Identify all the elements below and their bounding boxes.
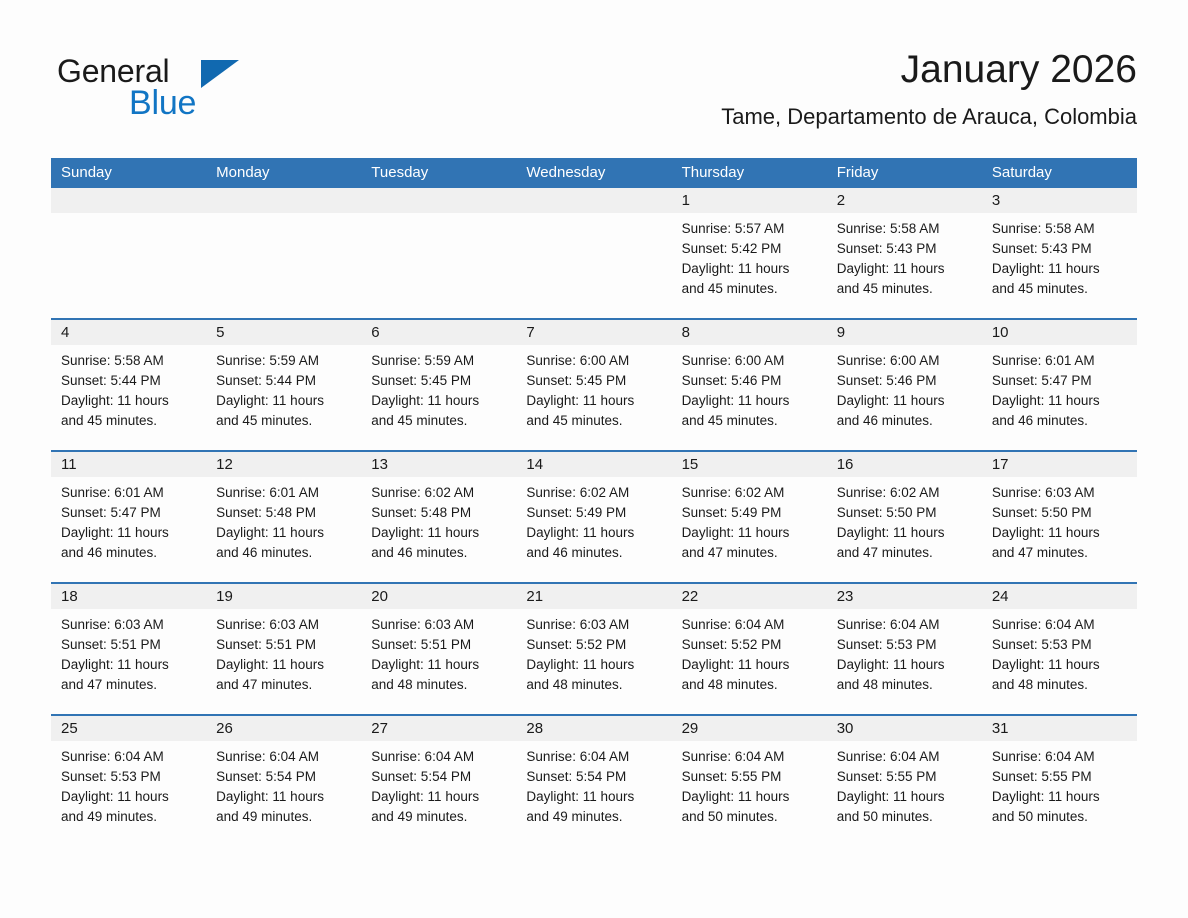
daylight-text-line2: and 45 minutes. xyxy=(216,411,353,431)
calendar-body: 1Sunrise: 5:57 AMSunset: 5:42 PMDaylight… xyxy=(51,188,1137,846)
calendar-day-cell[interactable]: 2Sunrise: 5:58 AMSunset: 5:43 PMDaylight… xyxy=(827,188,982,319)
sunset-text: Sunset: 5:46 PM xyxy=(682,371,819,391)
page-title: January 2026 xyxy=(317,46,1137,94)
daylight-text-line2: and 45 minutes. xyxy=(682,279,819,299)
daylight-text-line1: Daylight: 11 hours xyxy=(371,391,508,411)
calendar-day-cell[interactable]: 18Sunrise: 6:03 AMSunset: 5:51 PMDayligh… xyxy=(51,583,206,715)
daylight-text-line2: and 47 minutes. xyxy=(992,543,1129,563)
daylight-text-line2: and 48 minutes. xyxy=(682,675,819,695)
calendar-week-row: 11Sunrise: 6:01 AMSunset: 5:47 PMDayligh… xyxy=(51,451,1137,583)
sunset-text: Sunset: 5:45 PM xyxy=(526,371,663,391)
sunset-text: Sunset: 5:47 PM xyxy=(61,503,198,523)
sunset-text: Sunset: 5:43 PM xyxy=(992,239,1129,259)
daylight-text-line1: Daylight: 11 hours xyxy=(682,391,819,411)
sunrise-text: Sunrise: 6:03 AM xyxy=(61,615,198,635)
sunrise-text: Sunrise: 6:03 AM xyxy=(216,615,353,635)
sunset-text: Sunset: 5:54 PM xyxy=(216,767,353,787)
calendar-day-cell[interactable]: 29Sunrise: 6:04 AMSunset: 5:55 PMDayligh… xyxy=(672,715,827,846)
calendar-day-cell[interactable]: 5Sunrise: 5:59 AMSunset: 5:44 PMDaylight… xyxy=(206,319,361,451)
sunrise-text: Sunrise: 6:03 AM xyxy=(992,483,1129,503)
day-details xyxy=(361,213,516,318)
day-details: Sunrise: 5:59 AMSunset: 5:44 PMDaylight:… xyxy=(206,345,361,450)
day-number: 27 xyxy=(361,716,516,741)
calendar-week-row: 18Sunrise: 6:03 AMSunset: 5:51 PMDayligh… xyxy=(51,583,1137,715)
daylight-text-line1: Daylight: 11 hours xyxy=(216,391,353,411)
day-details: Sunrise: 6:00 AMSunset: 5:46 PMDaylight:… xyxy=(827,345,982,450)
day-number: 8 xyxy=(672,320,827,345)
daylight-text-line1: Daylight: 11 hours xyxy=(371,787,508,807)
calendar-day-cell[interactable]: 25Sunrise: 6:04 AMSunset: 5:53 PMDayligh… xyxy=(51,715,206,846)
daylight-text-line2: and 45 minutes. xyxy=(682,411,819,431)
day-number: 31 xyxy=(982,716,1137,741)
weekday-header-sunday: Sunday xyxy=(51,158,206,188)
sunrise-text: Sunrise: 6:04 AM xyxy=(837,615,974,635)
daylight-text-line1: Daylight: 11 hours xyxy=(526,787,663,807)
day-number: 4 xyxy=(51,320,206,345)
sunset-text: Sunset: 5:42 PM xyxy=(682,239,819,259)
sunrise-text: Sunrise: 5:59 AM xyxy=(371,351,508,371)
sunrise-text: Sunrise: 6:00 AM xyxy=(526,351,663,371)
day-details: Sunrise: 6:03 AMSunset: 5:51 PMDaylight:… xyxy=(206,609,361,714)
logo-text-general: General xyxy=(57,54,169,88)
day-number: 15 xyxy=(672,452,827,477)
day-number xyxy=(51,188,206,213)
daylight-text-line1: Daylight: 11 hours xyxy=(216,523,353,543)
calendar-header-row: Sunday Monday Tuesday Wednesday Thursday… xyxy=(51,158,1137,188)
day-number xyxy=(206,188,361,213)
daylight-text-line1: Daylight: 11 hours xyxy=(837,787,974,807)
day-details: Sunrise: 6:02 AMSunset: 5:48 PMDaylight:… xyxy=(361,477,516,582)
sunset-text: Sunset: 5:50 PM xyxy=(837,503,974,523)
daylight-text-line1: Daylight: 11 hours xyxy=(992,523,1129,543)
day-number: 24 xyxy=(982,584,1137,609)
calendar-day-cell[interactable]: 8Sunrise: 6:00 AMSunset: 5:46 PMDaylight… xyxy=(672,319,827,451)
sunset-text: Sunset: 5:45 PM xyxy=(371,371,508,391)
daylight-text-line2: and 49 minutes. xyxy=(526,807,663,827)
day-number: 28 xyxy=(516,716,671,741)
calendar-day-cell[interactable]: 23Sunrise: 6:04 AMSunset: 5:53 PMDayligh… xyxy=(827,583,982,715)
sunrise-text: Sunrise: 6:04 AM xyxy=(992,747,1129,767)
daylight-text-line1: Daylight: 11 hours xyxy=(61,787,198,807)
weekday-header-tuesday: Tuesday xyxy=(361,158,516,188)
sunrise-text: Sunrise: 5:58 AM xyxy=(992,219,1129,239)
sunrise-text: Sunrise: 5:58 AM xyxy=(837,219,974,239)
calendar-day-cell[interactable]: 16Sunrise: 6:02 AMSunset: 5:50 PMDayligh… xyxy=(827,451,982,583)
sunrise-text: Sunrise: 6:04 AM xyxy=(682,747,819,767)
page-header: General Blue January 2026 Tame, Departam… xyxy=(51,46,1137,150)
calendar-day-cell[interactable]: 15Sunrise: 6:02 AMSunset: 5:49 PMDayligh… xyxy=(672,451,827,583)
weekday-header-saturday: Saturday xyxy=(982,158,1137,188)
title-block: January 2026 Tame, Departamento de Arauc… xyxy=(317,46,1137,130)
sunrise-text: Sunrise: 6:02 AM xyxy=(371,483,508,503)
day-number: 26 xyxy=(206,716,361,741)
daylight-text-line2: and 45 minutes. xyxy=(837,279,974,299)
sunset-text: Sunset: 5:52 PM xyxy=(682,635,819,655)
daylight-text-line2: and 46 minutes. xyxy=(992,411,1129,431)
day-number: 11 xyxy=(51,452,206,477)
day-details: Sunrise: 6:04 AMSunset: 5:55 PMDaylight:… xyxy=(982,741,1137,846)
daylight-text-line2: and 45 minutes. xyxy=(992,279,1129,299)
sunrise-text: Sunrise: 6:04 AM xyxy=(992,615,1129,635)
generalblue-logo[interactable]: General Blue xyxy=(51,54,311,134)
day-details: Sunrise: 6:01 AMSunset: 5:47 PMDaylight:… xyxy=(982,345,1137,450)
sunrise-text: Sunrise: 6:04 AM xyxy=(526,747,663,767)
sunrise-text: Sunrise: 5:59 AM xyxy=(216,351,353,371)
sunrise-text: Sunrise: 6:04 AM xyxy=(61,747,198,767)
sunset-text: Sunset: 5:53 PM xyxy=(992,635,1129,655)
sunset-text: Sunset: 5:55 PM xyxy=(682,767,819,787)
calendar-day-cell[interactable]: 14Sunrise: 6:02 AMSunset: 5:49 PMDayligh… xyxy=(516,451,671,583)
calendar-day-cell[interactable]: 12Sunrise: 6:01 AMSunset: 5:48 PMDayligh… xyxy=(206,451,361,583)
calendar-day-cell[interactable]: 1Sunrise: 5:57 AMSunset: 5:42 PMDaylight… xyxy=(672,188,827,319)
sunset-text: Sunset: 5:49 PM xyxy=(682,503,819,523)
sunset-text: Sunset: 5:53 PM xyxy=(61,767,198,787)
sunset-text: Sunset: 5:47 PM xyxy=(992,371,1129,391)
sunrise-text: Sunrise: 6:04 AM xyxy=(837,747,974,767)
day-number: 7 xyxy=(516,320,671,345)
daylight-text-line2: and 48 minutes. xyxy=(526,675,663,695)
weekday-header-wednesday: Wednesday xyxy=(516,158,671,188)
daylight-text-line1: Daylight: 11 hours xyxy=(216,787,353,807)
day-details: Sunrise: 6:03 AMSunset: 5:50 PMDaylight:… xyxy=(982,477,1137,582)
sunrise-text: Sunrise: 6:04 AM xyxy=(216,747,353,767)
day-details xyxy=(516,213,671,318)
sunset-text: Sunset: 5:54 PM xyxy=(526,767,663,787)
calendar-day-cell[interactable]: 30Sunrise: 6:04 AMSunset: 5:55 PMDayligh… xyxy=(827,715,982,846)
daylight-text-line1: Daylight: 11 hours xyxy=(682,787,819,807)
day-number: 30 xyxy=(827,716,982,741)
daylight-text-line2: and 46 minutes. xyxy=(216,543,353,563)
daylight-text-line2: and 46 minutes. xyxy=(526,543,663,563)
page-subtitle: Tame, Departamento de Arauca, Colombia xyxy=(317,104,1137,130)
day-number: 25 xyxy=(51,716,206,741)
calendar-day-cell[interactable]: 11Sunrise: 6:01 AMSunset: 5:47 PMDayligh… xyxy=(51,451,206,583)
day-details: Sunrise: 6:00 AMSunset: 5:45 PMDaylight:… xyxy=(516,345,671,450)
day-details: Sunrise: 6:04 AMSunset: 5:52 PMDaylight:… xyxy=(672,609,827,714)
daylight-text-line2: and 47 minutes. xyxy=(216,675,353,695)
day-number: 6 xyxy=(361,320,516,345)
daylight-text-line2: and 46 minutes. xyxy=(837,411,974,431)
day-number: 18 xyxy=(51,584,206,609)
day-number: 5 xyxy=(206,320,361,345)
day-details: Sunrise: 5:58 AMSunset: 5:43 PMDaylight:… xyxy=(982,213,1137,318)
calendar-day-cell[interactable]: 21Sunrise: 6:03 AMSunset: 5:52 PMDayligh… xyxy=(516,583,671,715)
day-details: Sunrise: 6:02 AMSunset: 5:50 PMDaylight:… xyxy=(827,477,982,582)
daylight-text-line1: Daylight: 11 hours xyxy=(61,523,198,543)
sunrise-text: Sunrise: 5:57 AM xyxy=(682,219,819,239)
day-number: 23 xyxy=(827,584,982,609)
daylight-text-line2: and 47 minutes. xyxy=(61,675,198,695)
daylight-text-line2: and 49 minutes. xyxy=(371,807,508,827)
day-details: Sunrise: 5:57 AMSunset: 5:42 PMDaylight:… xyxy=(672,213,827,318)
calendar-week-row: 1Sunrise: 5:57 AMSunset: 5:42 PMDaylight… xyxy=(51,188,1137,319)
calendar-day-cell[interactable]: 20Sunrise: 6:03 AMSunset: 5:51 PMDayligh… xyxy=(361,583,516,715)
daylight-text-line1: Daylight: 11 hours xyxy=(61,391,198,411)
daylight-text-line2: and 48 minutes. xyxy=(837,675,974,695)
daylight-text-line1: Daylight: 11 hours xyxy=(526,523,663,543)
sunrise-text: Sunrise: 6:03 AM xyxy=(371,615,508,635)
sunset-text: Sunset: 5:50 PM xyxy=(992,503,1129,523)
day-details: Sunrise: 6:00 AMSunset: 5:46 PMDaylight:… xyxy=(672,345,827,450)
day-details: Sunrise: 6:03 AMSunset: 5:51 PMDaylight:… xyxy=(51,609,206,714)
daylight-text-line2: and 49 minutes. xyxy=(61,807,198,827)
day-details: Sunrise: 6:04 AMSunset: 5:54 PMDaylight:… xyxy=(516,741,671,846)
calendar-day-cell[interactable]: 22Sunrise: 6:04 AMSunset: 5:52 PMDayligh… xyxy=(672,583,827,715)
calendar-day-cell[interactable]: 24Sunrise: 6:04 AMSunset: 5:53 PMDayligh… xyxy=(982,583,1137,715)
calendar-day-cell[interactable]: 10Sunrise: 6:01 AMSunset: 5:47 PMDayligh… xyxy=(982,319,1137,451)
daylight-text-line2: and 48 minutes. xyxy=(992,675,1129,695)
day-number: 16 xyxy=(827,452,982,477)
sunrise-text: Sunrise: 6:04 AM xyxy=(682,615,819,635)
calendar-day-cell[interactable]: 26Sunrise: 6:04 AMSunset: 5:54 PMDayligh… xyxy=(206,715,361,846)
day-number: 29 xyxy=(672,716,827,741)
daylight-text-line2: and 45 minutes. xyxy=(61,411,198,431)
day-number: 9 xyxy=(827,320,982,345)
calendar-day-cell[interactable]: 3Sunrise: 5:58 AMSunset: 5:43 PMDaylight… xyxy=(982,188,1137,319)
daylight-text-line2: and 50 minutes. xyxy=(992,807,1129,827)
day-details xyxy=(51,213,206,318)
daylight-text-line2: and 50 minutes. xyxy=(682,807,819,827)
daylight-text-line1: Daylight: 11 hours xyxy=(682,259,819,279)
calendar-day-cell[interactable]: 19Sunrise: 6:03 AMSunset: 5:51 PMDayligh… xyxy=(206,583,361,715)
sunrise-text: Sunrise: 6:02 AM xyxy=(682,483,819,503)
sunrise-text: Sunrise: 6:03 AM xyxy=(526,615,663,635)
calendar-day-cell-empty xyxy=(361,188,516,319)
day-number: 17 xyxy=(982,452,1137,477)
daylight-text-line1: Daylight: 11 hours xyxy=(992,391,1129,411)
day-number: 22 xyxy=(672,584,827,609)
daylight-text-line1: Daylight: 11 hours xyxy=(837,655,974,675)
day-details: Sunrise: 6:04 AMSunset: 5:55 PMDaylight:… xyxy=(827,741,982,846)
sunset-text: Sunset: 5:55 PM xyxy=(837,767,974,787)
daylight-text-line2: and 48 minutes. xyxy=(371,675,508,695)
day-number: 1 xyxy=(672,188,827,213)
day-number: 20 xyxy=(361,584,516,609)
daylight-text-line1: Daylight: 11 hours xyxy=(992,787,1129,807)
calendar-day-cell-empty xyxy=(516,188,671,319)
day-details: Sunrise: 5:58 AMSunset: 5:43 PMDaylight:… xyxy=(827,213,982,318)
daylight-text-line1: Daylight: 11 hours xyxy=(837,259,974,279)
day-number: 13 xyxy=(361,452,516,477)
daylight-text-line2: and 46 minutes. xyxy=(61,543,198,563)
sunrise-text: Sunrise: 6:00 AM xyxy=(837,351,974,371)
calendar-day-cell[interactable]: 31Sunrise: 6:04 AMSunset: 5:55 PMDayligh… xyxy=(982,715,1137,846)
daylight-text-line2: and 50 minutes. xyxy=(837,807,974,827)
sunset-text: Sunset: 5:53 PM xyxy=(837,635,974,655)
calendar-day-cell[interactable]: 28Sunrise: 6:04 AMSunset: 5:54 PMDayligh… xyxy=(516,715,671,846)
daylight-text-line2: and 47 minutes. xyxy=(682,543,819,563)
daylight-text-line1: Daylight: 11 hours xyxy=(837,523,974,543)
daylight-text-line1: Daylight: 11 hours xyxy=(216,655,353,675)
daylight-text-line1: Daylight: 11 hours xyxy=(992,655,1129,675)
daylight-text-line1: Daylight: 11 hours xyxy=(682,523,819,543)
daylight-text-line2: and 45 minutes. xyxy=(526,411,663,431)
weekday-header-monday: Monday xyxy=(206,158,361,188)
sunset-text: Sunset: 5:48 PM xyxy=(371,503,508,523)
sunrise-text: Sunrise: 6:01 AM xyxy=(216,483,353,503)
calendar-day-cell-empty xyxy=(206,188,361,319)
day-details: Sunrise: 6:01 AMSunset: 5:47 PMDaylight:… xyxy=(51,477,206,582)
daylight-text-line2: and 45 minutes. xyxy=(371,411,508,431)
calendar-day-cell[interactable]: 13Sunrise: 6:02 AMSunset: 5:48 PMDayligh… xyxy=(361,451,516,583)
day-number: 2 xyxy=(827,188,982,213)
calendar-day-cell[interactable]: 17Sunrise: 6:03 AMSunset: 5:50 PMDayligh… xyxy=(982,451,1137,583)
calendar-day-cell[interactable]: 27Sunrise: 6:04 AMSunset: 5:54 PMDayligh… xyxy=(361,715,516,846)
daylight-text-line1: Daylight: 11 hours xyxy=(992,259,1129,279)
day-details: Sunrise: 6:04 AMSunset: 5:53 PMDaylight:… xyxy=(51,741,206,846)
daylight-text-line1: Daylight: 11 hours xyxy=(682,655,819,675)
sunset-text: Sunset: 5:49 PM xyxy=(526,503,663,523)
day-details: Sunrise: 6:03 AMSunset: 5:52 PMDaylight:… xyxy=(516,609,671,714)
daylight-text-line1: Daylight: 11 hours xyxy=(526,391,663,411)
day-details: Sunrise: 6:03 AMSunset: 5:51 PMDaylight:… xyxy=(361,609,516,714)
day-details: Sunrise: 6:02 AMSunset: 5:49 PMDaylight:… xyxy=(672,477,827,582)
calendar-day-cell[interactable]: 6Sunrise: 5:59 AMSunset: 5:45 PMDaylight… xyxy=(361,319,516,451)
day-details: Sunrise: 6:01 AMSunset: 5:48 PMDaylight:… xyxy=(206,477,361,582)
day-details: Sunrise: 6:04 AMSunset: 5:55 PMDaylight:… xyxy=(672,741,827,846)
day-details: Sunrise: 5:58 AMSunset: 5:44 PMDaylight:… xyxy=(51,345,206,450)
day-details: Sunrise: 5:59 AMSunset: 5:45 PMDaylight:… xyxy=(361,345,516,450)
sunset-text: Sunset: 5:43 PM xyxy=(837,239,974,259)
day-details: Sunrise: 6:04 AMSunset: 5:53 PMDaylight:… xyxy=(982,609,1137,714)
sunset-text: Sunset: 5:54 PM xyxy=(371,767,508,787)
day-number xyxy=(361,188,516,213)
sunrise-text: Sunrise: 5:58 AM xyxy=(61,351,198,371)
daylight-text-line2: and 47 minutes. xyxy=(837,543,974,563)
sunset-text: Sunset: 5:55 PM xyxy=(992,767,1129,787)
calendar-table: Sunday Monday Tuesday Wednesday Thursday… xyxy=(51,158,1137,846)
daylight-text-line2: and 49 minutes. xyxy=(216,807,353,827)
calendar-week-row: 25Sunrise: 6:04 AMSunset: 5:53 PMDayligh… xyxy=(51,715,1137,846)
calendar-day-cell[interactable]: 9Sunrise: 6:00 AMSunset: 5:46 PMDaylight… xyxy=(827,319,982,451)
sunset-text: Sunset: 5:51 PM xyxy=(61,635,198,655)
day-number: 21 xyxy=(516,584,671,609)
sunrise-text: Sunrise: 6:01 AM xyxy=(992,351,1129,371)
logo-text-blue: Blue xyxy=(129,85,196,121)
daylight-text-line1: Daylight: 11 hours xyxy=(837,391,974,411)
weekday-header-friday: Friday xyxy=(827,158,982,188)
sunset-text: Sunset: 5:51 PM xyxy=(371,635,508,655)
sunrise-text: Sunrise: 6:02 AM xyxy=(837,483,974,503)
day-number xyxy=(516,188,671,213)
daylight-text-line1: Daylight: 11 hours xyxy=(371,655,508,675)
daylight-text-line1: Daylight: 11 hours xyxy=(61,655,198,675)
sunrise-text: Sunrise: 6:00 AM xyxy=(682,351,819,371)
day-number: 14 xyxy=(516,452,671,477)
sunrise-text: Sunrise: 6:01 AM xyxy=(61,483,198,503)
daylight-text-line1: Daylight: 11 hours xyxy=(371,523,508,543)
day-details: Sunrise: 6:04 AMSunset: 5:54 PMDaylight:… xyxy=(361,741,516,846)
sunset-text: Sunset: 5:52 PM xyxy=(526,635,663,655)
day-number: 3 xyxy=(982,188,1137,213)
day-details xyxy=(206,213,361,318)
calendar-day-cell[interactable]: 4Sunrise: 5:58 AMSunset: 5:44 PMDaylight… xyxy=(51,319,206,451)
day-number: 19 xyxy=(206,584,361,609)
sunrise-text: Sunrise: 6:02 AM xyxy=(526,483,663,503)
day-number: 12 xyxy=(206,452,361,477)
daylight-text-line1: Daylight: 11 hours xyxy=(526,655,663,675)
sunset-text: Sunset: 5:51 PM xyxy=(216,635,353,655)
day-details: Sunrise: 6:04 AMSunset: 5:53 PMDaylight:… xyxy=(827,609,982,714)
sunset-text: Sunset: 5:44 PM xyxy=(216,371,353,391)
weekday-header-thursday: Thursday xyxy=(672,158,827,188)
calendar-day-cell[interactable]: 7Sunrise: 6:00 AMSunset: 5:45 PMDaylight… xyxy=(516,319,671,451)
logo-triangle-icon xyxy=(201,60,239,88)
calendar-day-cell-empty xyxy=(51,188,206,319)
day-details: Sunrise: 6:04 AMSunset: 5:54 PMDaylight:… xyxy=(206,741,361,846)
day-number: 10 xyxy=(982,320,1137,345)
calendar-week-row: 4Sunrise: 5:58 AMSunset: 5:44 PMDaylight… xyxy=(51,319,1137,451)
sunset-text: Sunset: 5:44 PM xyxy=(61,371,198,391)
daylight-text-line2: and 46 minutes. xyxy=(371,543,508,563)
sunset-text: Sunset: 5:46 PM xyxy=(837,371,974,391)
day-details: Sunrise: 6:02 AMSunset: 5:49 PMDaylight:… xyxy=(516,477,671,582)
sunset-text: Sunset: 5:48 PM xyxy=(216,503,353,523)
sunrise-text: Sunrise: 6:04 AM xyxy=(371,747,508,767)
calendar-page: General Blue January 2026 Tame, Departam… xyxy=(0,0,1188,918)
